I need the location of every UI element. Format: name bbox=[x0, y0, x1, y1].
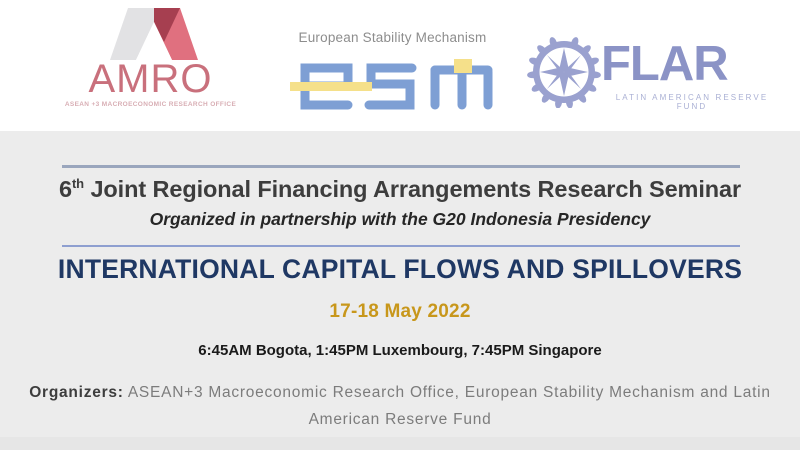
esm-title: European Stability Mechanism bbox=[285, 30, 500, 45]
flar-logo: FLAR LATIN AMERICAN RESERVE FUND bbox=[525, 36, 775, 114]
event-poster: AMRO ASEAN +3 MACROECONOMIC RESEARCH OFF… bbox=[0, 0, 800, 450]
seminar-title-text: Joint Regional Financing Arrangements Re… bbox=[84, 176, 741, 202]
divider-middle bbox=[62, 245, 740, 247]
seminar-ordinal-suffix: th bbox=[72, 176, 84, 191]
organizers-text: ASEAN+3 Macroeconomic Research Office, E… bbox=[124, 384, 771, 428]
seminar-title: 6th Joint Regional Financing Arrangement… bbox=[0, 176, 800, 203]
footer-band bbox=[0, 437, 800, 450]
divider-top bbox=[62, 165, 740, 168]
amro-tagline: ASEAN +3 MACROECONOMIC RESEARCH OFFICE bbox=[58, 101, 243, 108]
logo-band: AMRO ASEAN +3 MACROECONOMIC RESEARCH OFF… bbox=[0, 0, 800, 131]
esm-wordmark-icon bbox=[285, 54, 500, 112]
flar-tagline: LATIN AMERICAN RESERVE FUND bbox=[603, 93, 781, 111]
event-times: 6:45AM Bogota, 1:45PM Luxembourg, 7:45PM… bbox=[0, 342, 800, 359]
amro-logo: AMRO ASEAN +3 MACROECONOMIC RESEARCH OFF… bbox=[58, 6, 243, 121]
flar-wordmark: FLAR bbox=[601, 38, 728, 90]
amro-wordmark: AMRO bbox=[58, 58, 243, 100]
amro-a-mark bbox=[110, 8, 198, 60]
event-date: 17-18 May 2022 bbox=[0, 301, 800, 323]
esm-logo: European Stability Mechanism bbox=[285, 30, 500, 115]
flar-compass-star-laurel-emblem bbox=[525, 36, 603, 108]
seminar-subtitle: Organized in partnership with the G20 In… bbox=[0, 209, 800, 230]
seminar-number: 6 bbox=[59, 176, 72, 202]
event-headline: INTERNATIONAL CAPITAL FLOWS AND SPILLOVE… bbox=[0, 254, 800, 285]
organizers-label: Organizers: bbox=[29, 384, 123, 401]
organizers-line: Organizers: ASEAN+3 Macroeconomic Resear… bbox=[14, 379, 786, 433]
poster-body: 6th Joint Regional Financing Arrangement… bbox=[0, 131, 800, 437]
